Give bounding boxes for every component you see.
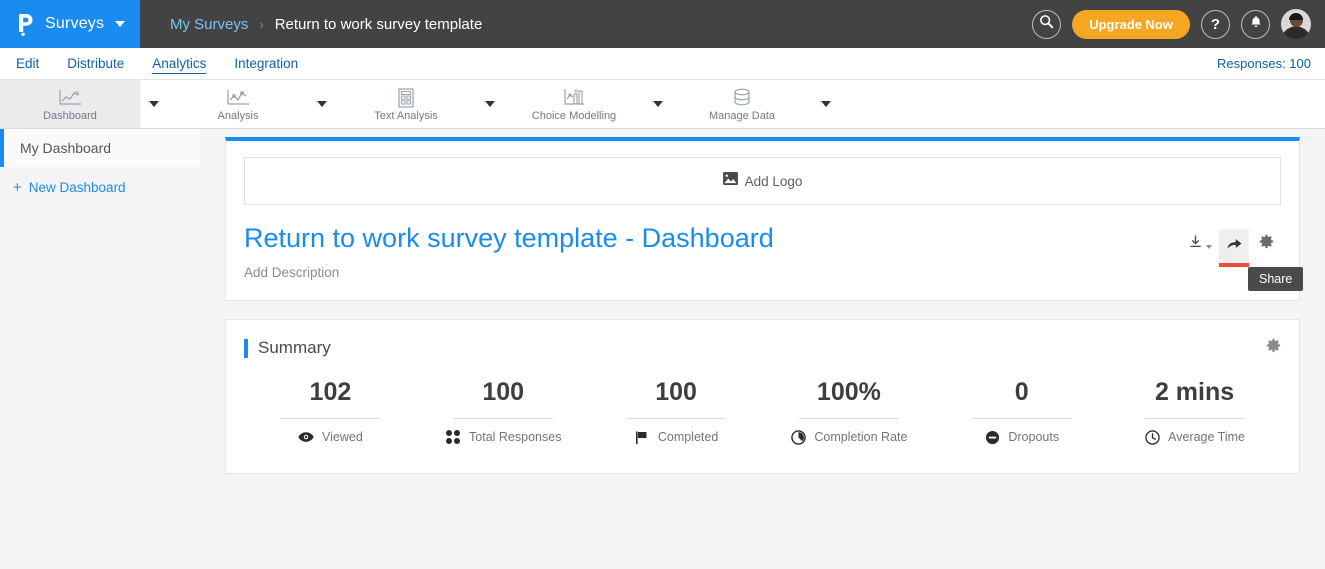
dashboard-content: Add Logo Return to work survey template …	[200, 129, 1325, 569]
breadcrumb-my-surveys[interactable]: My Surveys	[170, 16, 248, 33]
breadcrumb-separator-icon: ›	[259, 17, 263, 32]
toolbar-caret-manage-data[interactable]	[812, 101, 840, 107]
dashboard-settings-button[interactable]	[1251, 229, 1281, 259]
stat-label: Viewed	[322, 430, 363, 444]
dashboard-description[interactable]: Add Description	[244, 265, 1183, 280]
toolbar-item-text-analysis[interactable]: Text Analysis	[336, 80, 504, 128]
toolbar-label-manage-data: Manage Data	[709, 110, 775, 122]
stat-average-time: 2 mins Average Time	[1108, 378, 1281, 445]
breadcrumb-current-survey: Return to work survey template	[275, 16, 483, 33]
stat-divider	[799, 418, 899, 419]
notifications-button[interactable]	[1241, 10, 1270, 39]
brand-label: Surveys	[45, 15, 104, 33]
share-tooltip: Share	[1248, 267, 1303, 291]
stat-completion-rate: 100% Completion Rate	[762, 378, 935, 445]
toolbar-label-choice-modelling: Choice Modelling	[532, 110, 616, 122]
chevron-down-icon	[821, 101, 831, 107]
dashboard-header-card: Add Logo Return to work survey template …	[225, 137, 1300, 301]
pie-icon	[790, 429, 806, 445]
stat-value: 100	[655, 378, 697, 407]
clock-icon	[1144, 429, 1160, 445]
chevron-down-icon	[485, 101, 495, 107]
sidebar-item-label: My Dashboard	[20, 140, 111, 156]
chevron-down-icon	[149, 101, 159, 107]
image-icon	[723, 172, 738, 190]
summary-title: Summary	[258, 338, 1266, 358]
new-dashboard-label: New Dashboard	[29, 180, 126, 195]
stat-divider	[626, 418, 726, 419]
breadcrumb: My Surveys › Return to work survey templ…	[140, 0, 1032, 48]
top-bar: Surveys My Surveys › Return to work surv…	[0, 0, 1325, 48]
toolbar-label-text-analysis: Text Analysis	[374, 110, 438, 122]
dashboard-title-row: Return to work survey template - Dashboa…	[244, 223, 1281, 280]
stat-value: 0	[1015, 378, 1029, 407]
summary-accent-bar	[244, 339, 248, 358]
stat-divider	[972, 418, 1072, 419]
stat-value: 100	[482, 378, 524, 407]
survey-nav-bar: Edit Distribute Analytics Integration Re…	[0, 48, 1325, 80]
eye-icon	[298, 429, 314, 445]
flag-icon	[634, 429, 650, 445]
toolbar-item-manage-data[interactable]: Manage Data	[672, 80, 840, 128]
add-logo-label: Add Logo	[745, 174, 803, 189]
toolbar-caret-choice-modelling[interactable]	[644, 101, 672, 107]
user-avatar[interactable]	[1281, 9, 1311, 39]
summary-stats: 102 Viewed 100	[244, 378, 1281, 445]
download-button[interactable]	[1183, 229, 1217, 259]
chevron-down-icon	[115, 21, 125, 27]
help-button[interactable]: ?	[1201, 10, 1230, 39]
responses-count[interactable]: Responses: 100	[1217, 56, 1311, 71]
brand-surveys-menu[interactable]: Surveys	[0, 0, 140, 48]
minus-circle-icon	[984, 429, 1000, 445]
toolbar-caret-analysis[interactable]	[308, 101, 336, 107]
stat-viewed: 102 Viewed	[244, 378, 417, 445]
chevron-down-icon	[1206, 245, 1212, 249]
dashboard-sidebar: My Dashboard + New Dashboard	[0, 129, 200, 569]
analytics-toolbar: Dashboard Analysis Text Analysis	[0, 80, 1325, 129]
summary-header: Summary	[244, 338, 1281, 358]
toolbar-item-choice-modelling[interactable]: Choice Modelling	[504, 80, 672, 128]
nav-items: Edit Distribute Analytics Integration	[14, 54, 298, 74]
chevron-down-icon	[317, 101, 327, 107]
question-mark-icon: ?	[1211, 17, 1220, 32]
stat-label: Total Responses	[469, 430, 561, 444]
stat-value: 2 mins	[1155, 378, 1234, 407]
toolbar-label-analysis: Analysis	[218, 110, 259, 122]
plus-icon: +	[13, 180, 22, 195]
questionpro-p-logo-icon	[16, 12, 36, 36]
document-grid-icon	[395, 87, 417, 109]
stat-completed: 100 Completed	[590, 378, 763, 445]
nav-item-analytics[interactable]: Analytics	[152, 54, 206, 74]
page-body: My Dashboard + New Dashboard Add Logo Re…	[0, 129, 1325, 569]
toolbar-label-dashboard: Dashboard	[43, 110, 97, 122]
bell-icon	[1249, 15, 1263, 34]
dashboard-actions: Share	[1183, 223, 1281, 263]
stat-divider	[1145, 418, 1245, 419]
stat-label: Completion Rate	[814, 430, 907, 444]
sidebar-item-my-dashboard[interactable]: My Dashboard	[0, 129, 200, 167]
stat-dropouts: 0 Dropouts	[935, 378, 1108, 445]
share-button[interactable]: Share	[1219, 229, 1249, 263]
four-dots-icon	[445, 429, 461, 445]
database-icon	[731, 87, 753, 109]
upgrade-now-button[interactable]: Upgrade Now	[1072, 10, 1190, 39]
nav-item-integration[interactable]: Integration	[234, 54, 298, 73]
summary-card: Summary 102 Viewed 10	[225, 319, 1300, 474]
download-icon	[1188, 234, 1203, 254]
new-dashboard-button[interactable]: + New Dashboard	[0, 167, 200, 207]
scatter-chart-icon	[225, 87, 251, 109]
nav-item-distribute[interactable]: Distribute	[67, 54, 124, 73]
stat-value: 100%	[817, 378, 881, 407]
toolbar-caret-text-analysis[interactable]	[476, 101, 504, 107]
chevron-down-icon	[653, 101, 663, 107]
toolbar-item-dashboard[interactable]: Dashboard	[0, 80, 168, 128]
toolbar-item-analysis[interactable]: Analysis	[168, 80, 336, 128]
stat-value: 102	[310, 378, 352, 407]
share-arrow-icon	[1226, 236, 1243, 256]
line-chart-icon	[57, 87, 83, 109]
dashboard-title[interactable]: Return to work survey template - Dashboa…	[244, 223, 1183, 254]
stat-total-responses: 100 Total Responses	[417, 378, 590, 445]
stat-divider	[453, 418, 553, 419]
search-icon	[1039, 14, 1054, 34]
add-logo-dropzone[interactable]: Add Logo	[244, 157, 1281, 205]
toolbar-caret-dashboard[interactable]	[140, 101, 168, 107]
stat-divider	[280, 418, 380, 419]
summary-settings-button[interactable]	[1266, 338, 1281, 358]
stat-label: Dropouts	[1008, 430, 1059, 444]
search-button[interactable]	[1032, 10, 1061, 39]
topbar-actions: Upgrade Now ?	[1032, 0, 1325, 48]
dashboard-title-col: Return to work survey template - Dashboa…	[244, 223, 1183, 280]
stat-label: Completed	[658, 430, 718, 444]
stat-label: Average Time	[1168, 430, 1245, 444]
bar-scatter-icon	[562, 87, 586, 109]
gear-icon	[1259, 234, 1274, 254]
nav-item-edit[interactable]: Edit	[16, 54, 39, 73]
